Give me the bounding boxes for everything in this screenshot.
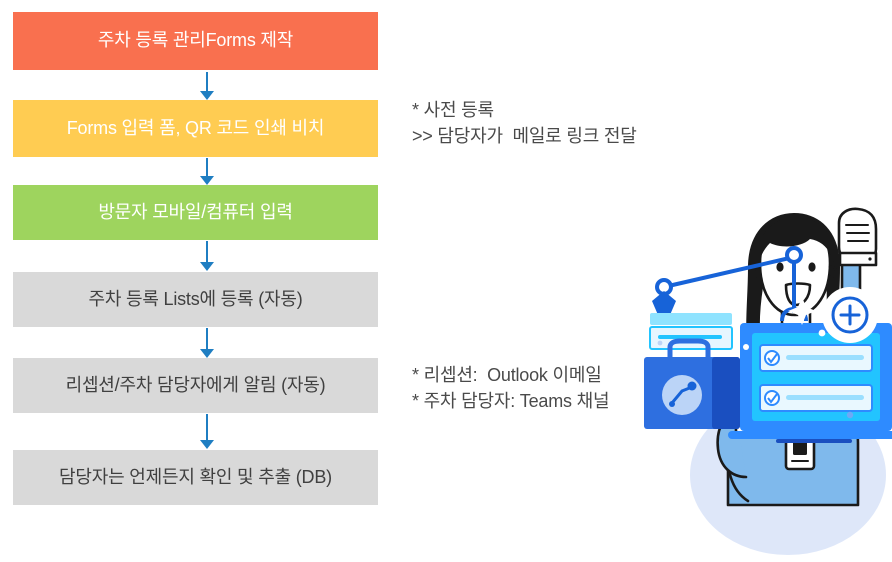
- cuff-button: [868, 257, 871, 260]
- arrow-head: [200, 91, 214, 100]
- sparkle-dot: [743, 344, 749, 350]
- checklist-checkbox-1: [765, 351, 779, 365]
- arrow-shaft: [206, 328, 208, 350]
- toolbox-emblem-dot: [688, 382, 697, 391]
- arrow-shaft: [206, 414, 208, 441]
- arrow-head: [200, 176, 214, 185]
- flow-step-1[interactable]: 주차 등록 관리Forms 제작: [13, 12, 378, 70]
- flow-step-2-label: Forms 입력 폼, QR 코드 인쇄 비치: [67, 118, 324, 140]
- checklist-row-1-line: [786, 355, 864, 360]
- flow-step-6-label: 담당자는 언제든지 확인 및 추출 (DB): [59, 467, 332, 489]
- annotation-pre-registration: * 사전 등록 >> 담당자가 메일로 링크 전달: [412, 97, 637, 149]
- flow-arrow-1-to-2: [195, 72, 219, 100]
- arrow-shaft: [206, 158, 208, 177]
- toolbox-icon: [644, 341, 740, 429]
- flow-step-5-label: 리셉션/주차 담당자에게 알림 (자동): [66, 375, 326, 397]
- crane-claw: [652, 291, 676, 315]
- flow-step-5[interactable]: 리셉션/주차 담당자에게 알림 (자동): [13, 358, 378, 413]
- toolbox-side: [712, 357, 740, 429]
- illustration-svg: [636, 205, 892, 562]
- annotation-notification-channel: * 리셉션: Outlook 이메일 * 주차 담당자: Teams 채널: [412, 362, 609, 414]
- process-flow-diagram: 주차 등록 관리Forms 제작 Forms 입력 폼, QR 코드 인쇄 비치…: [13, 0, 378, 562]
- flow-arrow-5-to-6: [195, 414, 219, 450]
- arrow-head: [200, 262, 214, 271]
- checklist-row-2-line: [786, 395, 864, 400]
- arrow-shaft: [206, 241, 208, 263]
- flow-arrow-4-to-5: [195, 328, 219, 359]
- sparkle-dot: [819, 330, 826, 337]
- flow-step-3-label: 방문자 모바일/컴퓨터 입력: [98, 202, 292, 224]
- flow-step-4-label: 주차 등록 Lists에 등록 (자동): [88, 289, 302, 311]
- flow-arrow-2-to-3: [195, 158, 219, 186]
- crane-pivot: [787, 248, 801, 262]
- sparkle-dot: [658, 341, 663, 346]
- laptop-checklist-icon: [728, 323, 892, 443]
- arrow-head: [200, 349, 214, 358]
- laptop-base: [728, 431, 892, 439]
- flow-step-1-label: 주차 등록 관리Forms 제작: [98, 30, 293, 52]
- flow-arrow-3-to-4: [195, 241, 219, 272]
- flow-step-2[interactable]: Forms 입력 폼, QR 코드 인쇄 비치: [13, 100, 378, 157]
- woman-raising-fist-illustration: [636, 205, 892, 562]
- arrow-shaft: [206, 72, 208, 92]
- laptop-foot: [776, 439, 852, 443]
- arrow-head: [200, 440, 214, 449]
- toolbox-emblem-circle: [662, 375, 702, 415]
- plus-badge-icon: [822, 287, 878, 343]
- toolbox-emblem-dot2: [669, 401, 675, 407]
- sparkle-dot: [847, 412, 853, 418]
- flow-step-6[interactable]: 담당자는 언제든지 확인 및 추출 (DB): [13, 450, 378, 505]
- flow-step-3[interactable]: 방문자 모바일/컴퓨터 입력: [13, 185, 378, 240]
- floating-card-top: [650, 313, 732, 325]
- eye-left: [776, 262, 783, 271]
- floating-card-line: [658, 335, 722, 339]
- flow-step-4[interactable]: 주차 등록 Lists에 등록 (자동): [13, 272, 378, 327]
- checklist-checkbox-2: [765, 391, 779, 405]
- eye-right: [808, 262, 815, 271]
